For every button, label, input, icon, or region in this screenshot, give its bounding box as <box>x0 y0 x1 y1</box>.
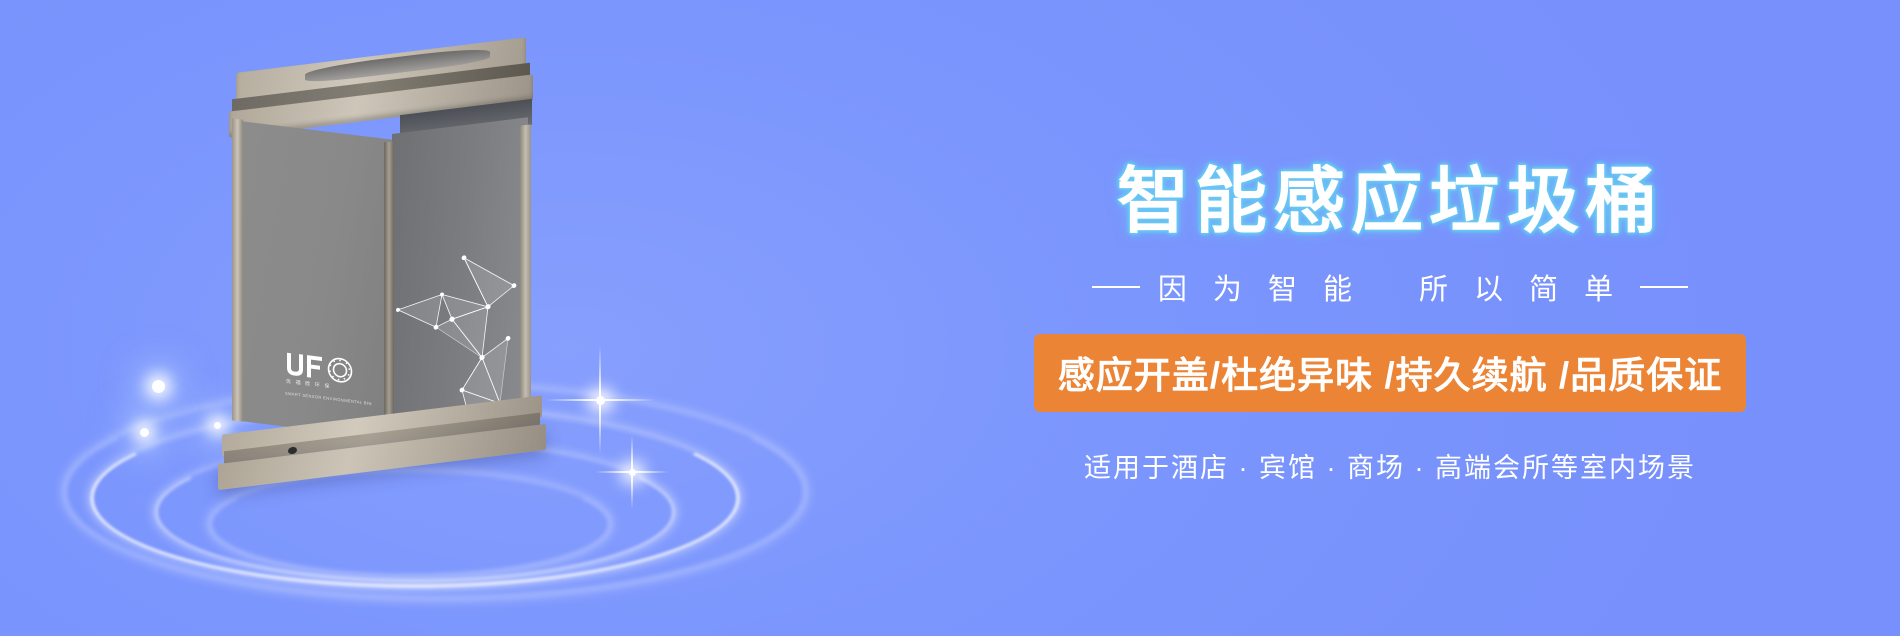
sparkle-core-1 <box>596 396 605 405</box>
marketing-copy-block: 智能感应垃圾桶 因 为 智 能 所 以 简 单 感应开盖/杜绝异味 /持久续航 … <box>880 0 1900 636</box>
glow-dot-2 <box>140 428 149 437</box>
subtitle-row: 因 为 智 能 所 以 简 单 <box>1092 266 1688 308</box>
subtitle-dash-left <box>1092 286 1140 288</box>
page-title: 智能感应垃圾桶 <box>1117 163 1663 242</box>
subtitle-dash-right <box>1640 286 1688 288</box>
subtitle-part-1: 因 为 智 能 <box>1158 266 1361 308</box>
glow-ring-3 <box>210 472 610 576</box>
product-stage: 优 福 欧 环 保 SMART SENSOR ENVIRONMENTAL BIN <box>0 0 840 636</box>
bin-edge-center <box>384 142 394 442</box>
feature-tagline-badge: 感应开盖/杜绝异味 /持久续航 /品质保证 <box>1034 334 1746 412</box>
usage-scenarios-text: 适用于酒店 · 宾馆 · 商场 · 高端会所等室内场景 <box>1084 446 1696 485</box>
bin-edge-left <box>232 118 243 421</box>
product-promo-banner: 优 福 欧 环 保 SMART SENSOR ENVIRONMENTAL BIN… <box>0 0 1900 636</box>
subtitle-part-2: 所 以 简 单 <box>1419 266 1622 308</box>
ufo-brand-logo: 优 福 欧 环 保 SMART SENSOR ENVIRONMENTAL BIN <box>285 350 359 403</box>
trash-bin-product-image: 优 福 欧 环 保 SMART SENSOR ENVIRONMENTAL BIN <box>200 55 560 475</box>
sparkle-core-2 <box>629 469 636 476</box>
glow-dot-1 <box>152 380 165 393</box>
